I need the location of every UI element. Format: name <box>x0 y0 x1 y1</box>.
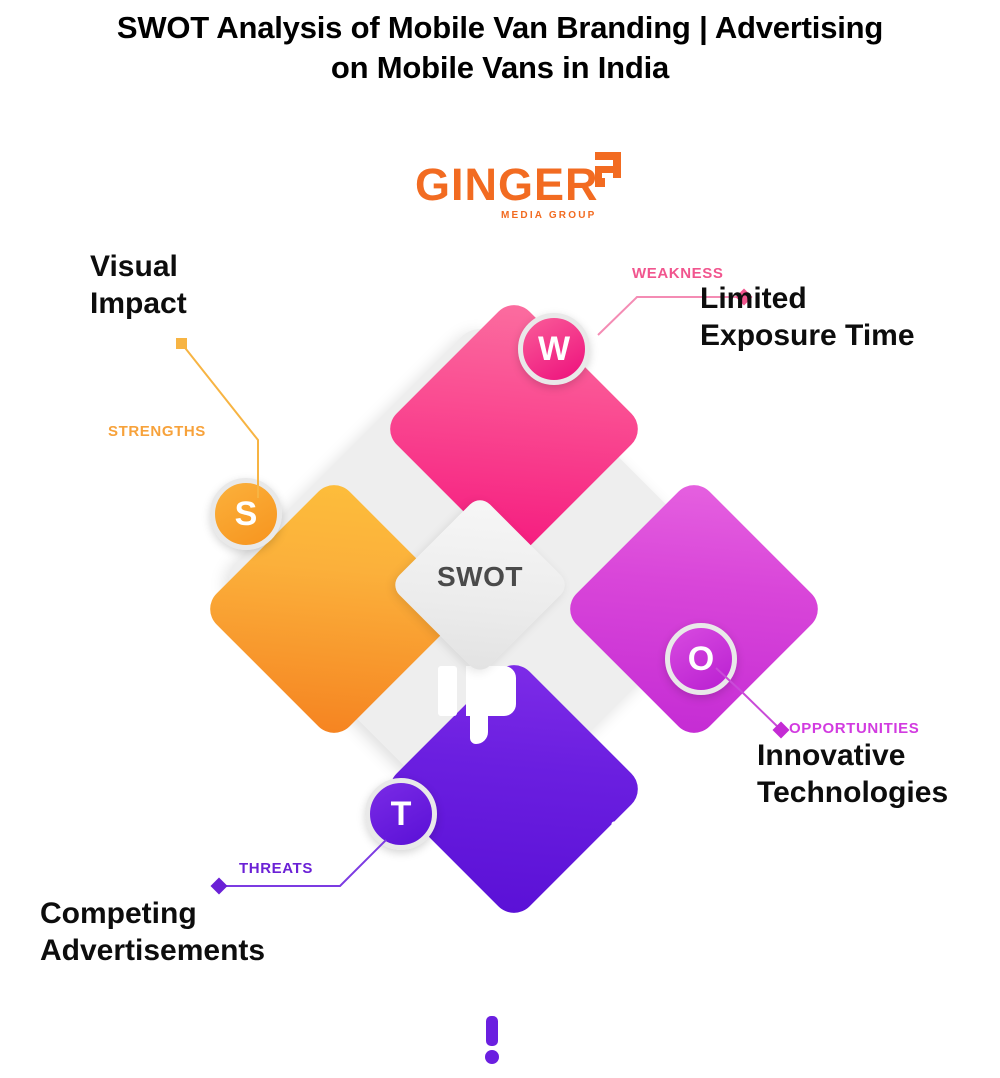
thumbs-down-icon <box>438 660 530 760</box>
badge-strengths[interactable]: S <box>210 478 282 550</box>
swot-diamond-diagram: SWOT S W O T <box>170 265 790 895</box>
callout-heading-threats-line-1: Competing <box>40 897 197 930</box>
badge-opportunities[interactable]: O <box>665 623 737 695</box>
swot-infographic: SWOT Analysis of Mobile Van Branding | A… <box>0 0 1000 1000</box>
warning-triangle-icon <box>443 990 541 1078</box>
center-label: SWOT <box>416 561 544 593</box>
callout-heading-opportunities-line-1: Innovative <box>757 739 905 772</box>
category-label-opportunities: OPPORTUNITIES <box>789 720 919 737</box>
callout-heading-strengths: Visual Impact <box>90 248 320 322</box>
callout-heading-threats: Competing Advertisements <box>40 895 370 969</box>
page-title-line-2: on Mobile Vans in India <box>0 48 1000 88</box>
callout-heading-threats-line-2: Advertisements <box>40 934 265 967</box>
callout-heading-opportunities-line-2: Technologies <box>757 776 948 809</box>
category-label-threats: THREATS <box>239 860 313 877</box>
callout-heading-strengths-line-2: Impact <box>90 287 187 320</box>
callout-heading-weakness: Limited Exposure Time <box>700 280 1000 354</box>
badge-threats[interactable]: T <box>365 778 437 850</box>
page-title-line-1: SWOT Analysis of Mobile Van Branding | A… <box>0 8 1000 48</box>
ginger-media-group-logo: GINGER MEDIA GROUP <box>415 150 625 230</box>
badge-weakness[interactable]: W <box>518 313 590 385</box>
logo-stepped-square-icon <box>575 150 623 195</box>
callout-heading-weakness-line-1: Limited <box>700 282 807 315</box>
page-title: SWOT Analysis of Mobile Van Branding | A… <box>0 8 1000 88</box>
logo-wordmark: GINGER <box>415 162 590 207</box>
category-label-strengths: STRENGTHS <box>108 423 206 440</box>
logo-tagline: MEDIA GROUP <box>501 210 621 221</box>
callout-heading-opportunities: Innovative Technologies <box>757 737 1000 811</box>
callout-heading-weakness-line-2: Exposure Time <box>700 319 915 352</box>
callout-heading-strengths-line-1: Visual <box>90 250 178 283</box>
lightbulb-icon <box>590 810 686 906</box>
